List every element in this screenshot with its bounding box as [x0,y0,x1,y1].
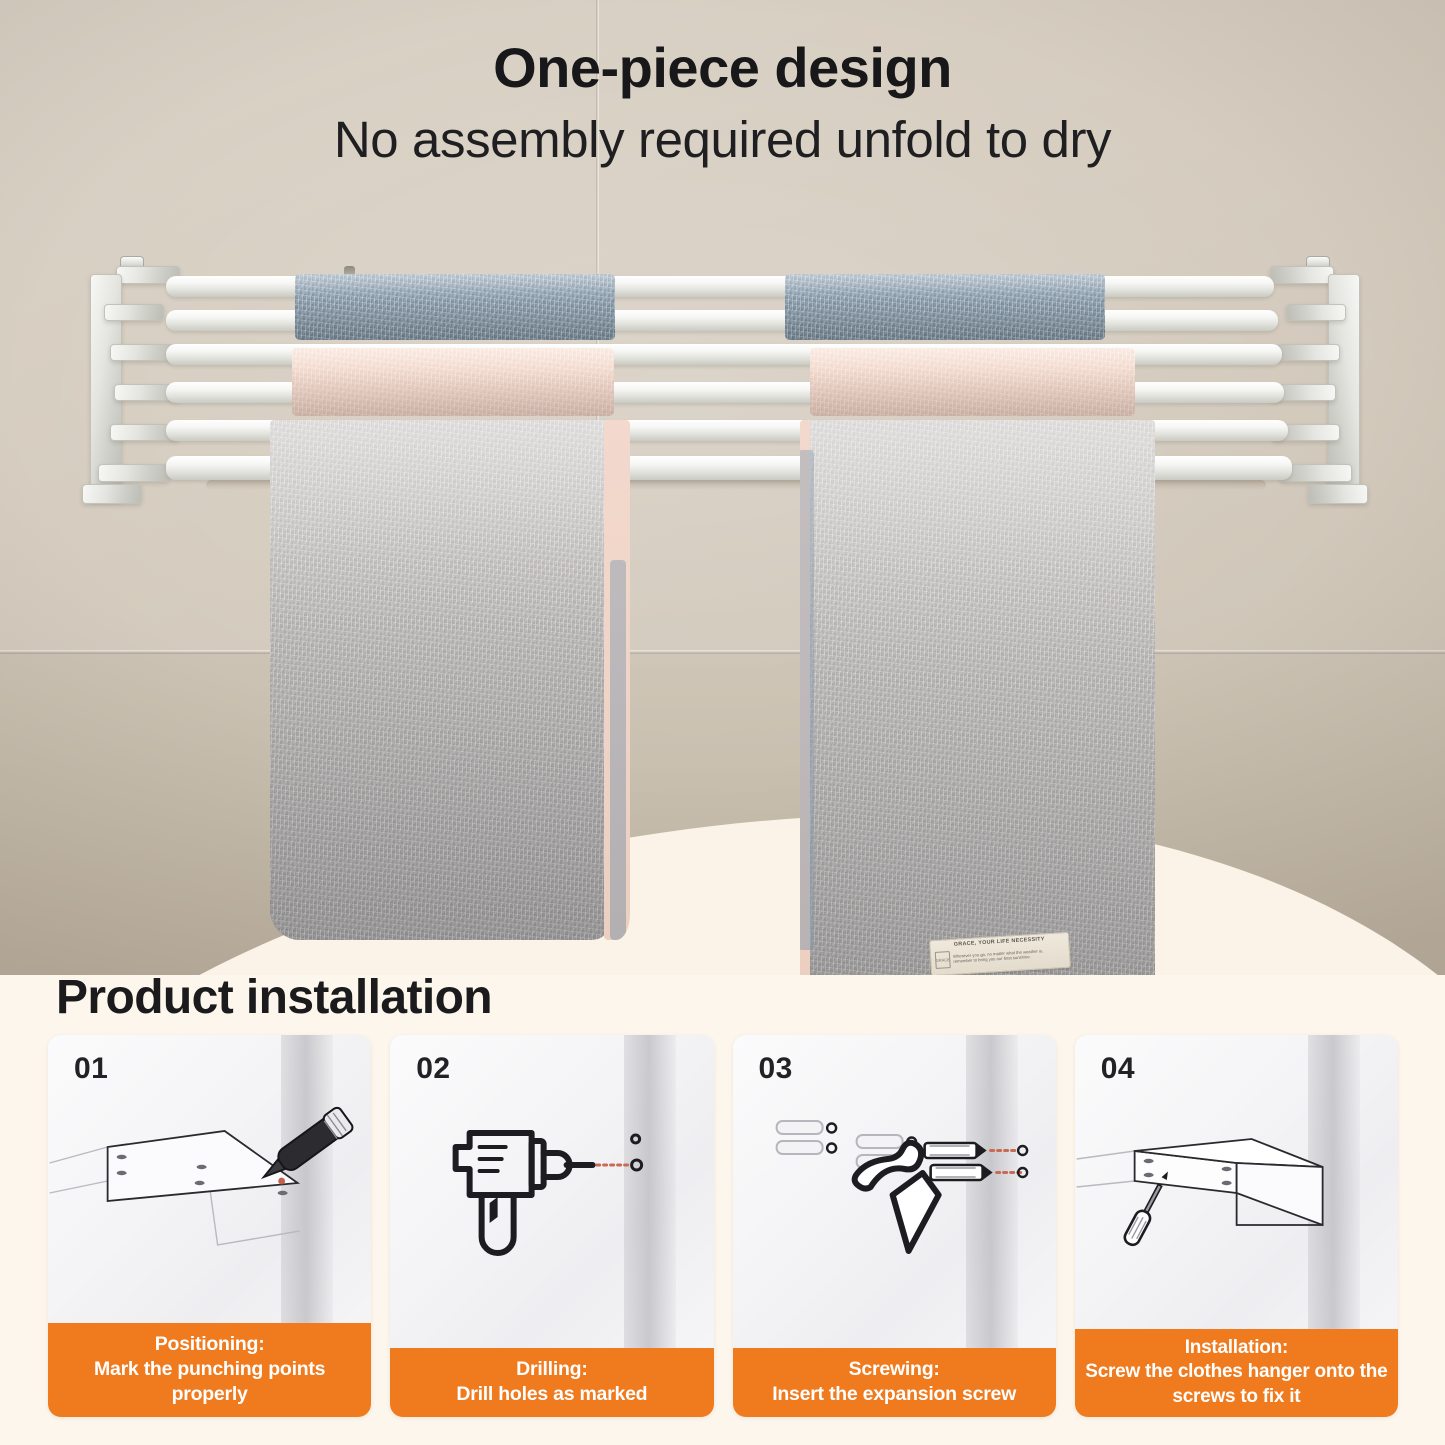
towel-blue-edge [800,450,814,950]
caption-title: Screwing: [739,1357,1050,1382]
rack-bracket-left [70,252,178,514]
installation-step-card-03[interactable]: 03 [733,1035,1056,1417]
towel-blue-left [295,274,615,340]
caption-text: Mark the punching points properly [54,1357,365,1407]
caption-title: Positioning: [54,1332,365,1357]
caption-title: Drilling: [396,1357,707,1382]
step-number: 01 [74,1052,108,1086]
page-title: One-piece design [0,38,1445,98]
step-caption: Drilling: Drill holes as marked [390,1348,713,1417]
step-number: 04 [1101,1052,1135,1086]
caption-title: Installation: [1079,1336,1394,1360]
caption-text: Insert the expansion screw [739,1382,1050,1407]
installation-step-card-04[interactable]: 04 [1075,1035,1398,1417]
step-number: 02 [416,1052,450,1086]
page-subtitle: No assembly required unfold to dry [0,112,1445,168]
towel-blue-edge [610,560,626,940]
product-marketing-image: GRACE, YOUR LIFE NECESSITY GRACE Whereve… [0,0,1445,1445]
headline-block: One-piece design No assembly required un… [0,38,1445,169]
installation-step-card-01[interactable]: 01 [48,1035,371,1417]
step-caption: Installation: Screw the clothes hanger o… [1075,1329,1398,1417]
installation-steps-list: 01 [48,1035,1398,1417]
drying-rack [70,252,1380,522]
towel-pink-left [292,348,614,416]
towel-pink-right [810,348,1135,416]
installation-section: Product installation 01 [0,930,1445,1445]
hero-product-photo: GRACE, YOUR LIFE NECESSITY GRACE Whereve… [0,0,1445,975]
caption-text: Drill holes as marked [396,1382,707,1407]
step-caption: Positioning: Mark the punching points pr… [48,1323,371,1417]
towel-blue-right [785,274,1105,340]
installation-step-card-02[interactable]: 02 [390,1035,713,1417]
section-title: Product installation [56,970,492,1025]
caption-text: Screw the clothes hanger onto the screws… [1079,1360,1394,1409]
step-number: 03 [759,1052,793,1086]
hanging-towel-right: GRACE, YOUR LIFE NECESSITY GRACE Whereve… [800,420,1180,975]
hanging-towel-left [270,420,630,940]
step-caption: Screwing: Insert the expansion screw [733,1348,1056,1417]
